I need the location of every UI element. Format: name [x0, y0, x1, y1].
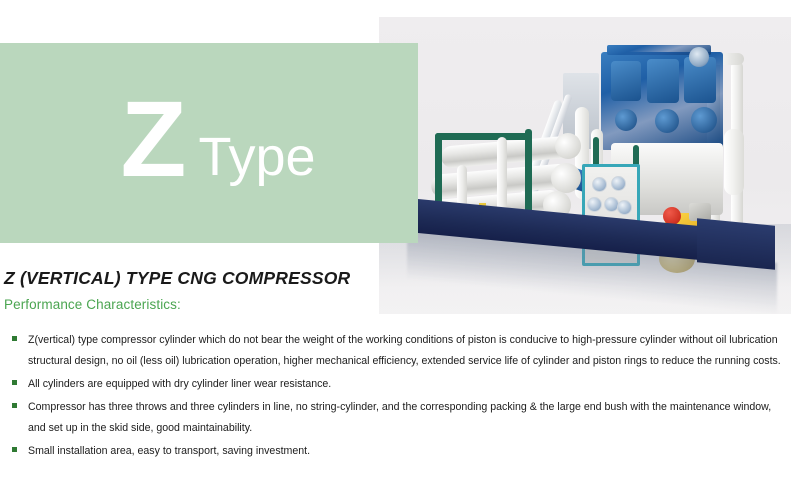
compressor-cyl-head-left	[611, 61, 641, 101]
slide-page: Z Type Z (VERTICAL) TYPE CNG COMPRESSOR …	[0, 0, 800, 481]
square-bullet-icon	[12, 380, 17, 385]
characteristics-list: Z(vertical) type compressor cylinder whi…	[4, 330, 796, 464]
list-item-text: All cylinders are equipped with dry cyli…	[28, 374, 331, 395]
gauge-1	[592, 177, 607, 192]
square-bullet-icon	[12, 447, 17, 452]
square-bullet-icon	[12, 336, 17, 341]
compressor-flange-c	[691, 107, 717, 133]
section-subtitle: Performance Characteristics:	[4, 297, 181, 312]
hero-banner-content: Z Type	[0, 43, 418, 243]
hero-banner: Z Type	[0, 43, 418, 243]
gauge-2	[611, 176, 626, 191]
compressor-cyl-head-mid	[647, 59, 679, 103]
list-item: Small installation area, easy to transpo…	[4, 441, 796, 462]
list-item-text: Z(vertical) type compressor cylinder whi…	[28, 330, 788, 372]
page-title: Z (VERTICAL) TYPE CNG COMPRESSOR	[4, 268, 350, 289]
square-bullet-icon	[12, 403, 17, 408]
compressor-flange-b	[655, 109, 679, 133]
hero-letter: Z	[120, 85, 184, 193]
pipe-green-top-run	[435, 133, 531, 140]
list-item-text: Compressor has three throws and three cy…	[28, 397, 788, 439]
cooler-endcap-mid	[551, 163, 581, 193]
gauge-3	[587, 197, 602, 212]
compressor-handwheel	[689, 47, 709, 67]
cooler-endcap-top	[555, 133, 581, 159]
product-image-panel	[379, 17, 791, 314]
hero-word: Type	[198, 130, 315, 184]
list-item: All cylinders are equipped with dry cyli…	[4, 374, 796, 395]
list-item: Compressor has three throws and three cy…	[4, 397, 796, 439]
right-inline-vessel	[724, 129, 744, 195]
compressor-photo	[379, 17, 791, 314]
compressor-flange-a	[615, 109, 637, 131]
list-item-text: Small installation area, easy to transpo…	[28, 441, 310, 462]
gauge-5	[617, 200, 632, 215]
skid-base-end	[697, 218, 775, 270]
list-item: Z(vertical) type compressor cylinder whi…	[4, 330, 796, 372]
